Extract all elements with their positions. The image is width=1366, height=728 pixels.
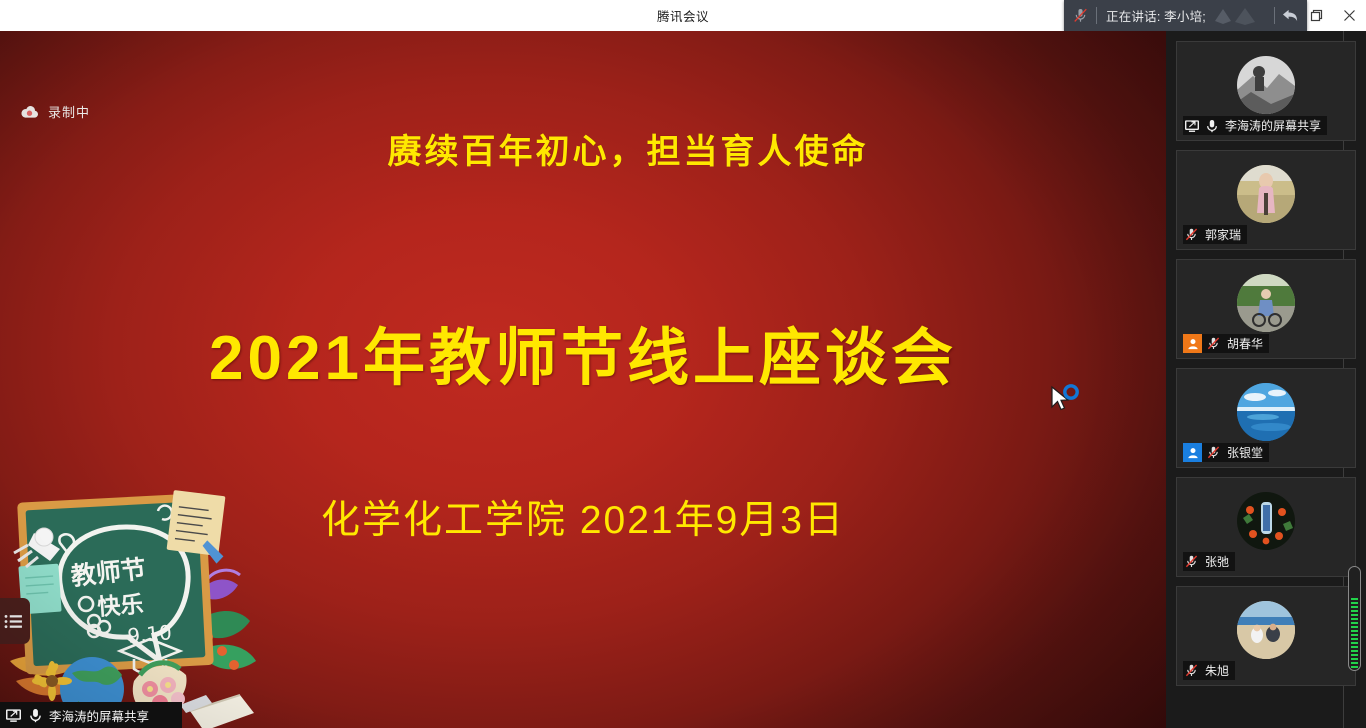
chalk-date: 9.10 — [126, 620, 172, 648]
avatar-bw-photo — [1237, 56, 1295, 114]
audio-wave-glyph — [1212, 5, 1266, 27]
window-controls — [1300, 0, 1366, 31]
mic-muted-icon[interactable] — [1064, 7, 1096, 24]
participant-name: 张银堂 — [1225, 444, 1263, 461]
slide-menu-tab[interactable] — [0, 598, 30, 644]
person-glyph — [1187, 338, 1199, 350]
participant-tile[interactable]: 张弛 — [1176, 477, 1356, 577]
level-segment — [1351, 598, 1358, 601]
mic-muted-glyph — [1206, 336, 1221, 351]
level-segment — [1351, 610, 1358, 613]
screen-share-glyph — [5, 708, 22, 723]
level-segment — [1351, 630, 1358, 633]
participant-tile[interactable]: 张银堂 — [1176, 368, 1356, 468]
mic-icon — [27, 707, 44, 724]
screen-share-owner-label: 李海涛的屏幕共享 — [49, 706, 149, 725]
screen-share-glyph — [1184, 119, 1200, 133]
mic-muted-icon — [1183, 553, 1200, 570]
audio-wave-icon — [1212, 5, 1266, 27]
level-segment — [1351, 666, 1358, 669]
avatar — [1237, 492, 1295, 550]
participant-tile[interactable]: 朱旭 — [1176, 586, 1356, 686]
level-segment — [1351, 662, 1358, 665]
participant-tile[interactable]: 郭家瑞 — [1176, 150, 1356, 250]
back-arrow-icon[interactable] — [1275, 7, 1307, 24]
screen-share-icon — [1183, 117, 1200, 134]
mic-muted-icon — [1183, 226, 1200, 243]
avatar — [1237, 383, 1295, 441]
recording-indicator: 录制中 — [20, 102, 90, 121]
restore-icon — [1310, 9, 1323, 22]
participant-rail[interactable]: 李海涛的屏幕共享 郭家瑞 — [1166, 31, 1366, 728]
participant-nametag: 李海涛的屏幕共享 — [1183, 116, 1327, 135]
mic-glyph — [1206, 119, 1218, 133]
slide-title: 2021年教师节线上座谈会 — [0, 307, 1166, 397]
avatar-sea-photo — [1237, 383, 1295, 441]
presentation-slide: 录制中 赓续百年初心，担当育人使命 2021年教师节线上座谈会 化学化工学院 2… — [0, 31, 1166, 728]
participant-tile[interactable]: 李海涛的屏幕共享 — [1176, 41, 1356, 141]
arrow-busy-cursor — [1046, 383, 1080, 415]
slide-banner-text: 赓续百年初心，担当育人使命 — [388, 124, 869, 173]
screen-share-status-bar: 李海涛的屏幕共享 — [0, 702, 182, 728]
level-segment — [1351, 618, 1358, 621]
participant-nametag: 张银堂 — [1183, 443, 1269, 462]
chalk-caption-2: 快乐 — [97, 592, 145, 621]
participant-tile[interactable]: 胡春华 — [1176, 259, 1356, 359]
avatar-beach-photo — [1237, 601, 1295, 659]
mic-muted-glyph — [1184, 554, 1199, 569]
slide-banner: 赓续百年初心，担当育人使命 — [0, 124, 1166, 173]
level-segment — [1351, 602, 1358, 605]
back-arrow-glyph — [1281, 7, 1300, 24]
host-badge-icon — [1183, 334, 1202, 353]
screen-share-icon — [5, 707, 22, 724]
audio-level-meter — [1348, 566, 1361, 671]
level-segment — [1351, 634, 1358, 637]
person-glyph — [1187, 447, 1199, 459]
level-segment — [1351, 650, 1358, 653]
level-segment — [1351, 606, 1358, 609]
avatar-bike-photo — [1237, 274, 1295, 332]
participant-nametag: 朱旭 — [1183, 661, 1235, 680]
avatar — [1237, 56, 1295, 114]
participant-nametag: 胡春华 — [1183, 334, 1269, 353]
participant-name: 郭家瑞 — [1203, 226, 1241, 243]
mic-glyph — [29, 708, 42, 723]
close-icon — [1343, 9, 1356, 22]
level-segment — [1351, 638, 1358, 641]
recording-label: 录制中 — [48, 102, 90, 121]
slide-title-text: 2021年教师节线上座谈会 — [209, 307, 957, 397]
level-segment — [1351, 654, 1358, 657]
level-segment — [1351, 614, 1358, 617]
chalkboard-illustration: 教师节 快乐 9.10 — [0, 475, 262, 728]
level-segment — [1351, 626, 1358, 629]
avatar-field-photo — [1237, 165, 1295, 223]
mic-muted-icon — [1205, 444, 1222, 461]
participant-name: 胡春华 — [1225, 335, 1263, 352]
mic-icon — [1203, 117, 1220, 134]
level-segment — [1351, 642, 1358, 645]
participant-name: 张弛 — [1203, 553, 1229, 570]
participant-name: 朱旭 — [1203, 662, 1229, 679]
co-host-badge-icon — [1183, 443, 1202, 462]
active-speaker-pill[interactable]: 正在讲话: 李小培; — [1064, 0, 1307, 31]
mic-muted-glyph — [1184, 663, 1199, 678]
participant-nametag: 郭家瑞 — [1183, 225, 1247, 244]
mic-muted-glyph — [1206, 445, 1221, 460]
avatar-dark-photo — [1237, 492, 1295, 550]
mic-muted-glyph — [1184, 227, 1199, 242]
active-speaker-label: 正在讲话: 李小培; — [1097, 6, 1206, 25]
slide-footer-text: 化学化工学院 2021年9月3日 — [321, 489, 845, 545]
level-segment — [1351, 622, 1358, 625]
mic-muted-icon — [1205, 335, 1222, 352]
avatar — [1237, 165, 1295, 223]
shared-screen-stage[interactable]: 录制中 赓续百年初心，担当育人使命 2021年教师节线上座谈会 化学化工学院 2… — [0, 31, 1166, 728]
mic-muted-icon — [1183, 662, 1200, 679]
level-segment — [1351, 658, 1358, 661]
cloud-record-icon — [20, 105, 39, 119]
avatar — [1237, 274, 1295, 332]
mic-muted-glyph — [1072, 7, 1089, 24]
window-title: 腾讯会议 — [657, 6, 709, 25]
close-button[interactable] — [1333, 0, 1366, 31]
participant-name: 李海涛的屏幕共享 — [1223, 117, 1321, 134]
list-menu-icon — [4, 614, 23, 629]
level-segment — [1351, 646, 1358, 649]
participant-nametag: 张弛 — [1183, 552, 1235, 571]
avatar — [1237, 601, 1295, 659]
